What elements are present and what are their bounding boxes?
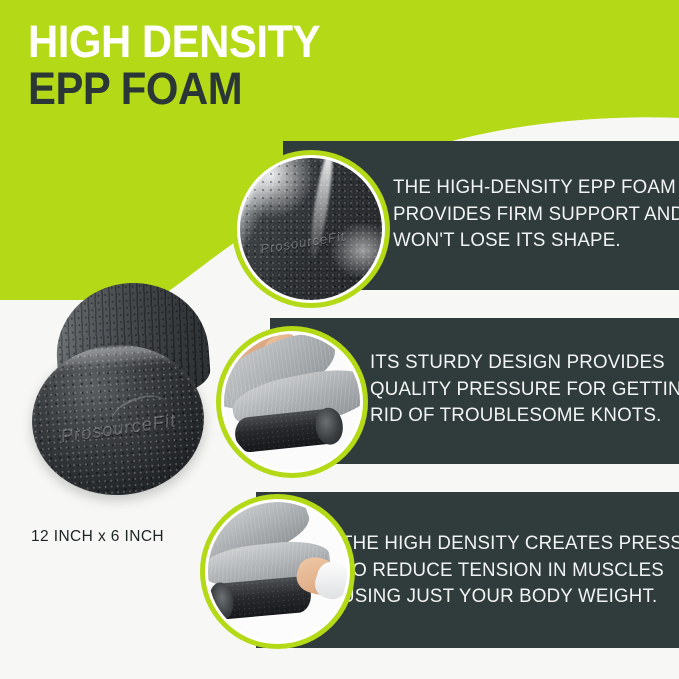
feature-3-line-2: TO REDUCE TENSION IN MUSCLES (341, 557, 664, 584)
feature-3-line-1: THE HIGH DENSITY CREATES PRESSURE (341, 530, 679, 557)
product-dimension-label: 12 INCH x 6 INCH (31, 528, 164, 546)
feature-1-line-1: THE HIGH-DENSITY EPP FOAM (393, 174, 676, 201)
calf-roll-photo (208, 502, 347, 641)
roller-end-cap: ProsourceFit (27, 339, 209, 501)
feature-1-photo-circle: ProsourceFit (232, 150, 390, 308)
feature-3-line-3: USING JUST YOUR BODY WEIGHT. (341, 583, 657, 610)
feature-2-photo-circle (216, 326, 368, 478)
hero-foam-roller-photo: ProsourceFit (24, 283, 214, 498)
product-infographic: HIGH DENSITY EPP FOAM THE HIGH-DENSITY E… (0, 0, 679, 679)
circle-inner-ring (221, 331, 363, 473)
feature-1-line-3: WON'T LOSE ITS SHAPE. (393, 227, 621, 254)
circle-inner-ring (205, 499, 350, 644)
foam-texture-closeup-photo: ProsourceFit (240, 158, 382, 300)
feature-2-line-2: QUALITY PRESSURE FOR GETTING (370, 376, 679, 403)
feature-2-line-1: ITS STURDY DESIGN PROVIDES (370, 349, 665, 376)
feature-1-line-2: PROVIDES FIRM SUPPORT AND (393, 201, 679, 228)
feature-2-line-3: RID OF TROUBLESOME KNOTS. (370, 402, 662, 429)
feature-3-photo-circle (200, 494, 355, 649)
circle-inner-ring: ProsourceFit (237, 155, 385, 303)
kneeling-thigh-roll-photo (224, 334, 360, 470)
